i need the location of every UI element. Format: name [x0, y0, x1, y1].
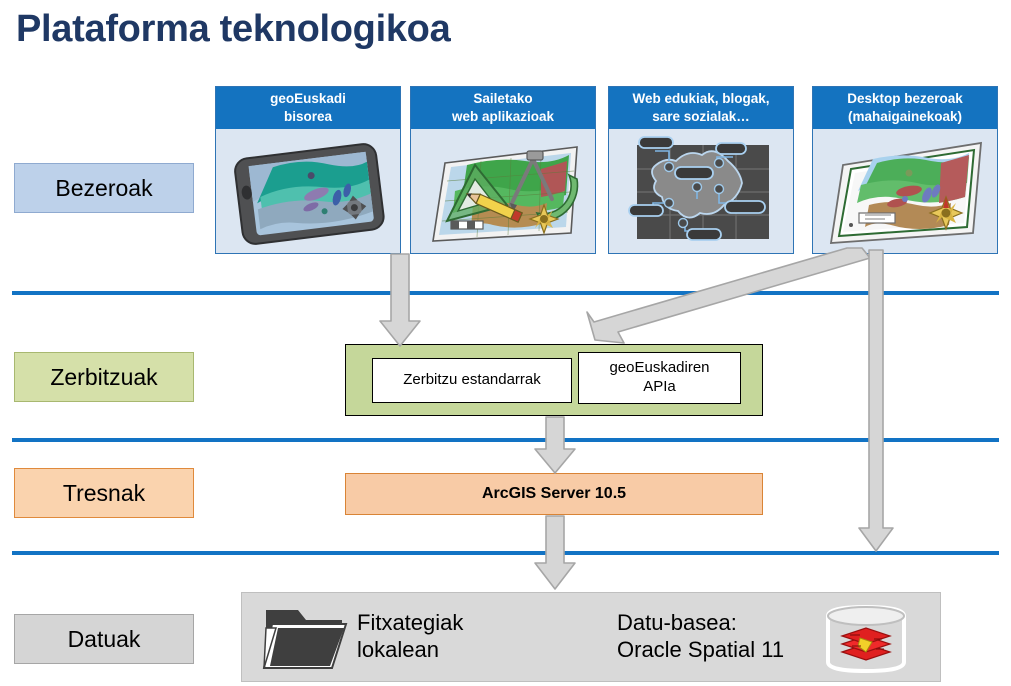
- database-icon: [822, 604, 910, 674]
- row-label-tools: Tresnak: [14, 468, 194, 518]
- service-box-standard-label: Zerbitzu estandarrak: [403, 371, 541, 390]
- folder-icon: [262, 604, 348, 672]
- data-item-files-label: Fitxategiak lokalean: [357, 610, 463, 664]
- divider-services-tools: [12, 438, 999, 442]
- arrow-services-to-tools: [535, 417, 575, 473]
- data-item-database-label: Datu-basea: Oracle Spatial 11: [617, 610, 784, 664]
- client-card-web-content[interactable]: Web edukiak, blogak, sare sozialak…: [608, 86, 794, 254]
- arrow-viewer-to-services: [380, 254, 420, 346]
- tools-band-arcgis[interactable]: ArcGIS Server 10.5: [345, 473, 763, 515]
- divider-clients-services: [12, 291, 999, 295]
- client-card-web-content-caption: Web edukiak, blogak, sare sozialak…: [609, 87, 793, 129]
- row-label-tools-text: Tresnak: [63, 480, 145, 507]
- client-card-viewer-caption: geoEuskadi bisorea: [216, 87, 400, 129]
- row-label-data: Datuak: [14, 614, 194, 664]
- row-label-clients-text: Bezeroak: [55, 175, 152, 202]
- row-label-services-text: Zerbitzuak: [50, 364, 157, 391]
- map-drafting-tools-icon: [411, 129, 595, 253]
- service-box-api-label: geoEuskadiren APIa: [609, 359, 709, 397]
- service-box-api[interactable]: geoEuskadiren APIa: [578, 352, 741, 404]
- printed-map-icon: [813, 129, 997, 253]
- row-label-clients: Bezeroak: [14, 163, 194, 213]
- row-label-data-text: Datuak: [68, 626, 141, 653]
- row-label-services: Zerbitzuak: [14, 352, 194, 402]
- service-box-standard[interactable]: Zerbitzu estandarrak: [372, 358, 572, 403]
- map-callouts-icon: [609, 129, 793, 253]
- client-card-web-apps[interactable]: Sailetako web aplikazioak: [410, 86, 596, 254]
- arrow-desktop-to-services: [587, 248, 870, 343]
- diagram-canvas: Plataforma teknologikoa Bezeroak Zerbitz…: [0, 0, 1011, 686]
- tools-band-label: ArcGIS Server 10.5: [482, 485, 626, 503]
- arrow-desktop-to-data: [859, 250, 893, 551]
- divider-tools-data: [12, 551, 999, 555]
- page-title: Plataforma teknologikoa: [16, 8, 450, 51]
- tablet-map-icon: [216, 129, 400, 253]
- client-card-viewer[interactable]: geoEuskadi bisorea: [215, 86, 401, 254]
- client-card-desktop-caption: Desktop bezeroak (mahaigainekoak): [813, 87, 997, 129]
- client-card-desktop[interactable]: Desktop bezeroak (mahaigainekoak): [812, 86, 998, 254]
- client-card-web-apps-caption: Sailetako web aplikazioak: [411, 87, 595, 129]
